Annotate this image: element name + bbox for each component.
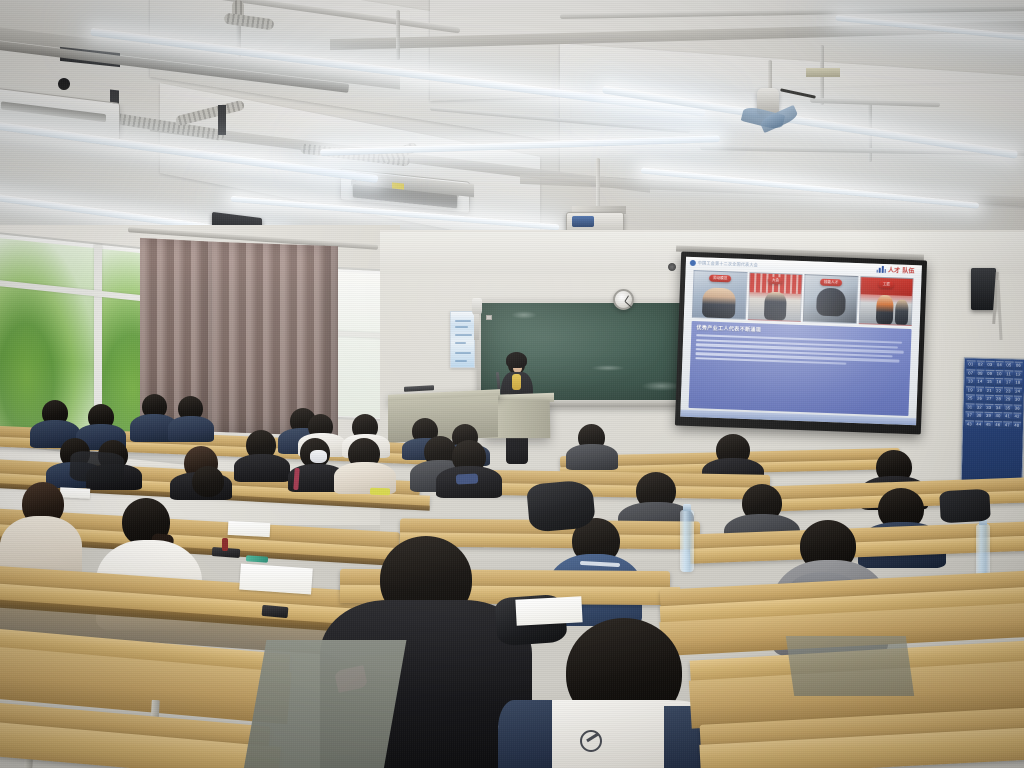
phone-pocket[interactable]: 27 bbox=[985, 395, 994, 403]
projector-panel bbox=[572, 216, 594, 227]
wall-sensor bbox=[668, 263, 676, 271]
projection-screen[interactable]: 中国工会第十二次全国代表大会 人才 队伍 劳动模范 bbox=[675, 252, 927, 435]
wall-poster bbox=[450, 311, 475, 368]
phone-pocket[interactable]: 32 bbox=[975, 403, 984, 411]
paper-sheet bbox=[239, 564, 313, 595]
bottle-cap bbox=[683, 504, 691, 511]
phone-pocket[interactable]: 42 bbox=[1013, 413, 1022, 421]
stationery-case bbox=[246, 555, 268, 563]
phone-pocket[interactable]: 07 bbox=[966, 369, 975, 377]
window-glass bbox=[331, 272, 385, 419]
phone-pocket[interactable]: 09 bbox=[985, 369, 994, 377]
jacket-panel bbox=[498, 700, 552, 768]
chalk-smudge bbox=[591, 365, 625, 371]
phone-pocket[interactable]: 33 bbox=[984, 403, 993, 411]
curtain bbox=[212, 242, 338, 436]
phone-pocket[interactable]: 43 bbox=[965, 420, 974, 428]
projector-pole bbox=[596, 158, 600, 210]
phone-pocket[interactable]: 19 bbox=[966, 386, 975, 394]
shirt-graphic bbox=[456, 473, 478, 484]
phone-pocket[interactable]: 14 bbox=[976, 378, 985, 386]
phone-pocket[interactable]: 44 bbox=[975, 420, 984, 428]
draped-jacket bbox=[526, 479, 596, 533]
jacket-logo-icon bbox=[580, 730, 602, 752]
phone-pocket[interactable]: 39 bbox=[984, 412, 993, 420]
floor bbox=[786, 636, 914, 696]
phone-pocket[interactable]: 38 bbox=[975, 412, 984, 420]
student-head bbox=[192, 466, 224, 497]
student-body bbox=[566, 444, 618, 470]
phone-pocket[interactable]: 01 bbox=[967, 360, 976, 368]
phone-pocket[interactable]: 06 bbox=[1014, 362, 1023, 370]
poster-line bbox=[455, 342, 466, 344]
phone-pocket[interactable]: 12 bbox=[1014, 370, 1023, 378]
poster-line bbox=[455, 352, 471, 354]
poster-line bbox=[455, 360, 467, 362]
phone-pocket[interactable]: 23 bbox=[1004, 387, 1013, 395]
phone-pocket[interactable]: 10 bbox=[995, 370, 1004, 378]
phone-pocket[interactable]: 25 bbox=[966, 394, 975, 402]
floor bbox=[244, 640, 407, 768]
clock-minute-hand bbox=[625, 301, 632, 308]
chalk-smudge bbox=[511, 311, 537, 319]
wall-plate bbox=[486, 315, 492, 320]
phone-pocket[interactable]: 22 bbox=[994, 387, 1003, 395]
phone-pocket[interactable]: 46 bbox=[993, 421, 1002, 429]
presenter-hair bbox=[506, 352, 527, 368]
paper-sheet bbox=[60, 487, 90, 499]
phone-pocket[interactable]: 26 bbox=[975, 395, 984, 403]
sticky-note bbox=[370, 488, 390, 496]
paper-stack bbox=[515, 596, 582, 625]
phone-pocket[interactable]: 04 bbox=[995, 361, 1004, 369]
lecture-hall-photo: University lecture hall during a present… bbox=[0, 0, 1024, 768]
phone-pocket[interactable]: 15 bbox=[985, 378, 994, 386]
ceiling-bracket bbox=[58, 78, 70, 90]
phone-pocket[interactable]: 16 bbox=[995, 378, 1004, 386]
student-body bbox=[234, 454, 290, 482]
screen-glare bbox=[680, 257, 922, 426]
phone-pocket[interactable]: 02 bbox=[976, 361, 985, 369]
pen bbox=[222, 538, 228, 551]
phone-pocket[interactable]: 35 bbox=[1003, 404, 1012, 412]
phone-pocket[interactable]: 31 bbox=[965, 403, 974, 411]
ceiling-pipe bbox=[396, 10, 400, 60]
phone-pocket[interactable]: 29 bbox=[1004, 395, 1013, 403]
phone-pocket[interactable]: 13 bbox=[966, 377, 975, 385]
phone-pocket[interactable]: 17 bbox=[1004, 378, 1013, 386]
fan-mount-plate bbox=[806, 68, 840, 77]
phone-pocket[interactable]: 20 bbox=[975, 386, 984, 394]
phone-pocket[interactable]: 28 bbox=[994, 395, 1003, 403]
mobile-phone bbox=[262, 605, 289, 618]
poster-line bbox=[455, 334, 472, 336]
presenter-scarf bbox=[512, 374, 521, 390]
ac-vent bbox=[1, 101, 106, 122]
phone-pocket[interactable]: 34 bbox=[994, 404, 1003, 412]
paper-sheet bbox=[228, 521, 271, 537]
phone-pocket[interactable]: 48 bbox=[1012, 421, 1021, 429]
chalk-smudge bbox=[641, 381, 681, 391]
phone-pocket[interactable]: 40 bbox=[994, 412, 1003, 420]
phone-pocket[interactable]: 03 bbox=[986, 361, 995, 369]
phone-pocket[interactable]: 37 bbox=[965, 411, 974, 419]
wall-speaker bbox=[971, 268, 996, 310]
phone-pocket[interactable]: 11 bbox=[1004, 370, 1013, 378]
face-mask bbox=[310, 450, 327, 463]
phone-pocket[interactable]: 18 bbox=[1014, 379, 1023, 387]
student-body bbox=[168, 416, 214, 442]
backpack bbox=[939, 489, 991, 524]
phone-pocket[interactable]: 41 bbox=[1003, 412, 1012, 420]
phone-pocket[interactable]: 05 bbox=[1005, 361, 1014, 369]
poster-line bbox=[455, 320, 471, 322]
wall-clock bbox=[613, 289, 634, 310]
ac-indicator bbox=[392, 182, 404, 189]
screen-surface: 中国工会第十二次全国代表大会 人才 队伍 劳动模范 bbox=[680, 257, 922, 426]
poster-line bbox=[455, 326, 468, 328]
water-bottle[interactable] bbox=[680, 510, 694, 572]
phone-pocket[interactable]: 08 bbox=[976, 369, 985, 377]
phone-pocket[interactable]: 36 bbox=[1013, 404, 1022, 412]
phone-pocket[interactable]: 24 bbox=[1013, 387, 1022, 395]
camera-cable bbox=[474, 314, 479, 340]
phone-pocket[interactable]: 21 bbox=[985, 386, 994, 394]
phone-pocket[interactable]: 30 bbox=[1013, 396, 1022, 404]
phone-pocket[interactable]: 47 bbox=[1003, 421, 1012, 429]
ceiling-bracket bbox=[218, 105, 226, 135]
phone-pocket[interactable]: 45 bbox=[984, 420, 993, 428]
backpack bbox=[69, 451, 124, 484]
